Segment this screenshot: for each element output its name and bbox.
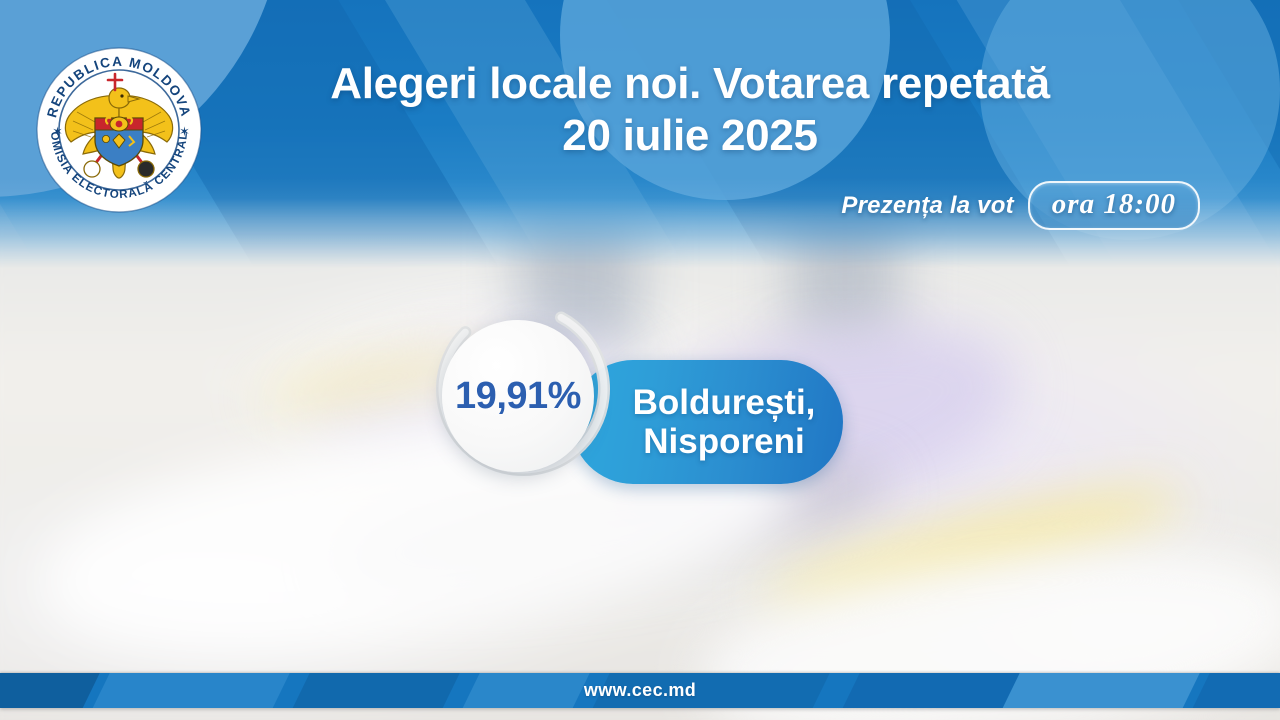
turnout-label: Prezența la vot: [841, 192, 1013, 220]
location-line-1: Boldurești,: [633, 383, 816, 422]
time-badge-label: ora 18:00: [1052, 188, 1176, 220]
infographic-canvas: REPUBLICA MOLDOVA COMISIA ELECTORALĂ CEN…: [0, 0, 1280, 720]
footer: www.cec.md: [0, 668, 1280, 720]
title-line-2: 20 iulie 2025: [240, 110, 1140, 162]
footer-url[interactable]: www.cec.md: [0, 673, 1280, 708]
turnout-percentage: 19,91%: [455, 375, 581, 418]
emblem-star-left-icon: ✶: [52, 124, 63, 139]
turnout-subline: Prezența la vot ora 18:00: [240, 181, 1200, 230]
header-title-block: Alegeri locale noi. Votarea repetată 20 …: [240, 58, 1140, 162]
percentage-bubble: 19,91%: [442, 320, 594, 472]
turnout-stat-group: Boldurești, Nisporeni 19,91%: [430, 296, 850, 502]
cec-emblem-logo: REPUBLICA MOLDOVA COMISIA ELECTORALĂ CEN…: [33, 44, 205, 216]
title-line-1: Alegeri locale noi. Votarea repetată: [240, 58, 1140, 110]
time-badge: ora 18:00: [1028, 181, 1200, 230]
location-line-2: Nisporeni: [643, 422, 804, 461]
emblem-star-right-icon: ✶: [179, 124, 190, 139]
